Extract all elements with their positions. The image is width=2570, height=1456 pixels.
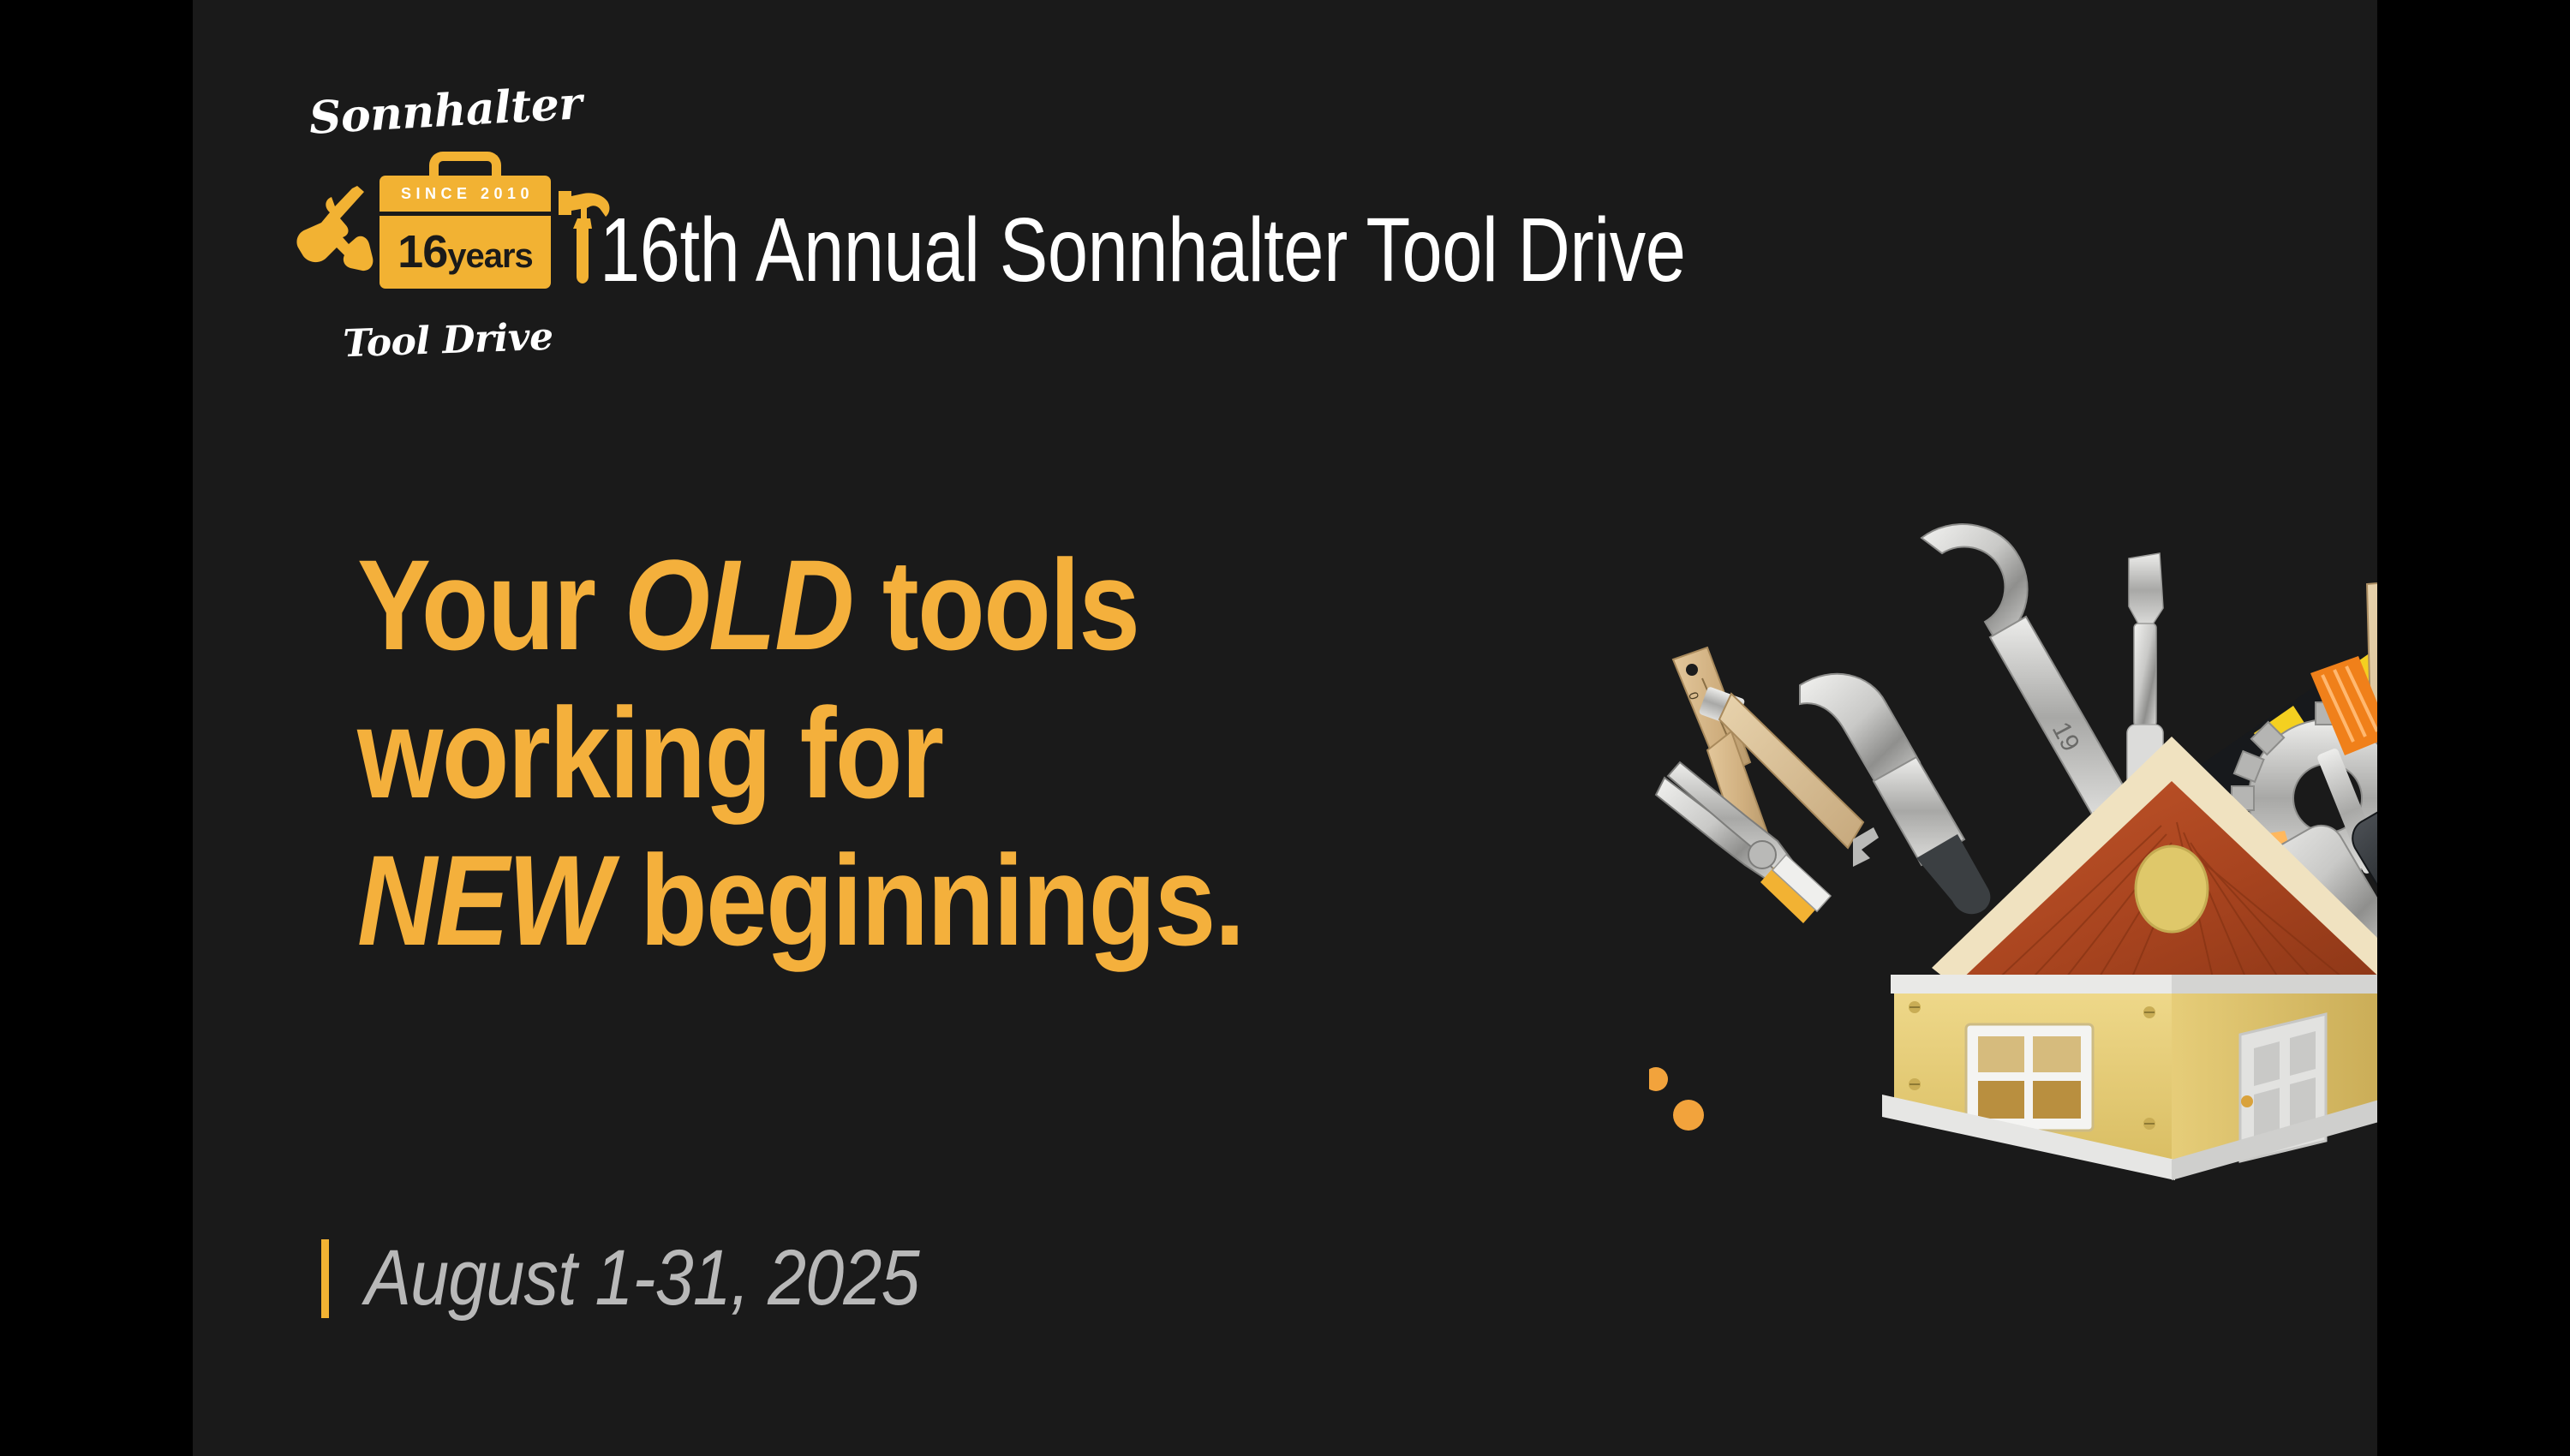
event-date: August 1-31, 2025 — [365, 1233, 919, 1323]
years-number: 16 — [397, 226, 447, 277]
side-top-trim — [2172, 975, 2377, 994]
since-label: SINCE 2010 — [380, 176, 551, 212]
headline-line-3: NEW beginnings. — [357, 826, 1389, 975]
drill-icon — [296, 184, 377, 283]
poster-canvas: Sonnhalter SINCE 2010 16years Tool Drive — [193, 0, 2377, 1456]
accent-dots — [1649, 1067, 1704, 1131]
gable-vent — [2136, 846, 2208, 932]
years-unit: years — [447, 237, 533, 275]
house-toolbox-illustration: 0 3 — [1649, 480, 2377, 1182]
headline-emphasis-new: NEW — [357, 828, 611, 972]
headline-line-1-pre: Your — [357, 533, 625, 677]
headline: Your OLD tools working for NEW beginning… — [357, 531, 1389, 975]
event-date-row: August 1-31, 2025 — [321, 1233, 995, 1323]
logo-script-tool-drive: Tool Drive — [310, 306, 586, 375]
front-top-trim — [1891, 975, 2175, 994]
door-knob — [2241, 1095, 2253, 1107]
headline-line-1: Your OLD tools — [357, 531, 1389, 679]
toolbox-badge: SINCE 2010 16years — [380, 152, 551, 289]
headline-emphasis-old: OLD — [625, 533, 853, 677]
poster-stage: Sonnhalter SINCE 2010 16years Tool Drive — [0, 0, 2570, 1456]
letterbox-left — [0, 0, 193, 1456]
sonnhalter-tool-drive-logo: Sonnhalter SINCE 2010 16years Tool Drive — [296, 73, 595, 351]
headline-line-1-post: tools — [853, 533, 1139, 677]
logo-script-sonnhalter: Sonnhalter — [294, 64, 597, 158]
headline-line-3-post: beginnings. — [611, 828, 1244, 972]
years-label: 16years — [380, 216, 551, 289]
date-accent-bar — [321, 1239, 329, 1318]
letterbox-right — [2377, 0, 2570, 1456]
headline-line-2: working for — [357, 679, 1389, 827]
page-title: 16th Annual Sonnhalter Tool Drive — [600, 199, 1686, 302]
